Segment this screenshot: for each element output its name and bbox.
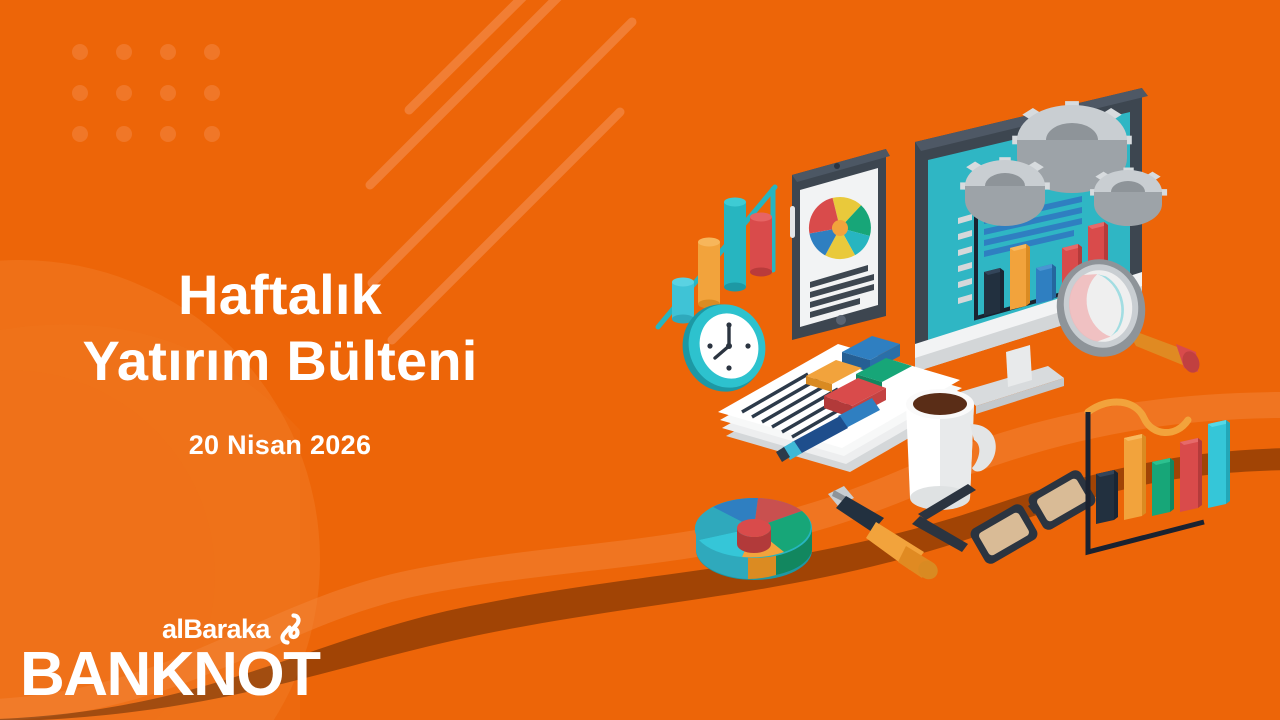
gear-medium	[960, 157, 1050, 226]
slide-canvas: Haftalık Yatırım Bülteni 20 Nisan 2026 a…	[0, 0, 1280, 720]
cable-squiggle	[1088, 402, 1188, 433]
banknot-wordmark: BANKNOT	[20, 644, 319, 706]
page-title: Haftalık Yatırım Bülteni	[0, 262, 560, 394]
cylinder-bar-1	[672, 278, 694, 324]
cylinder-bar-4	[750, 213, 772, 277]
tablet-with-pie-chart	[790, 149, 890, 340]
title-block: Haftalık Yatırım Bülteni 20 Nisan 2026	[0, 262, 560, 461]
cylinder-bar-3	[724, 198, 746, 292]
gear-small	[1090, 168, 1167, 226]
3d-pie-chart	[695, 498, 812, 580]
albaraka-wordmark: alBaraka	[162, 616, 270, 643]
cylinder-bar-2	[698, 238, 720, 309]
publication-date: 20 Nisan 2026	[0, 394, 560, 461]
brand-logo[interactable]: alBaraka BANKNOT	[16, 612, 316, 707]
